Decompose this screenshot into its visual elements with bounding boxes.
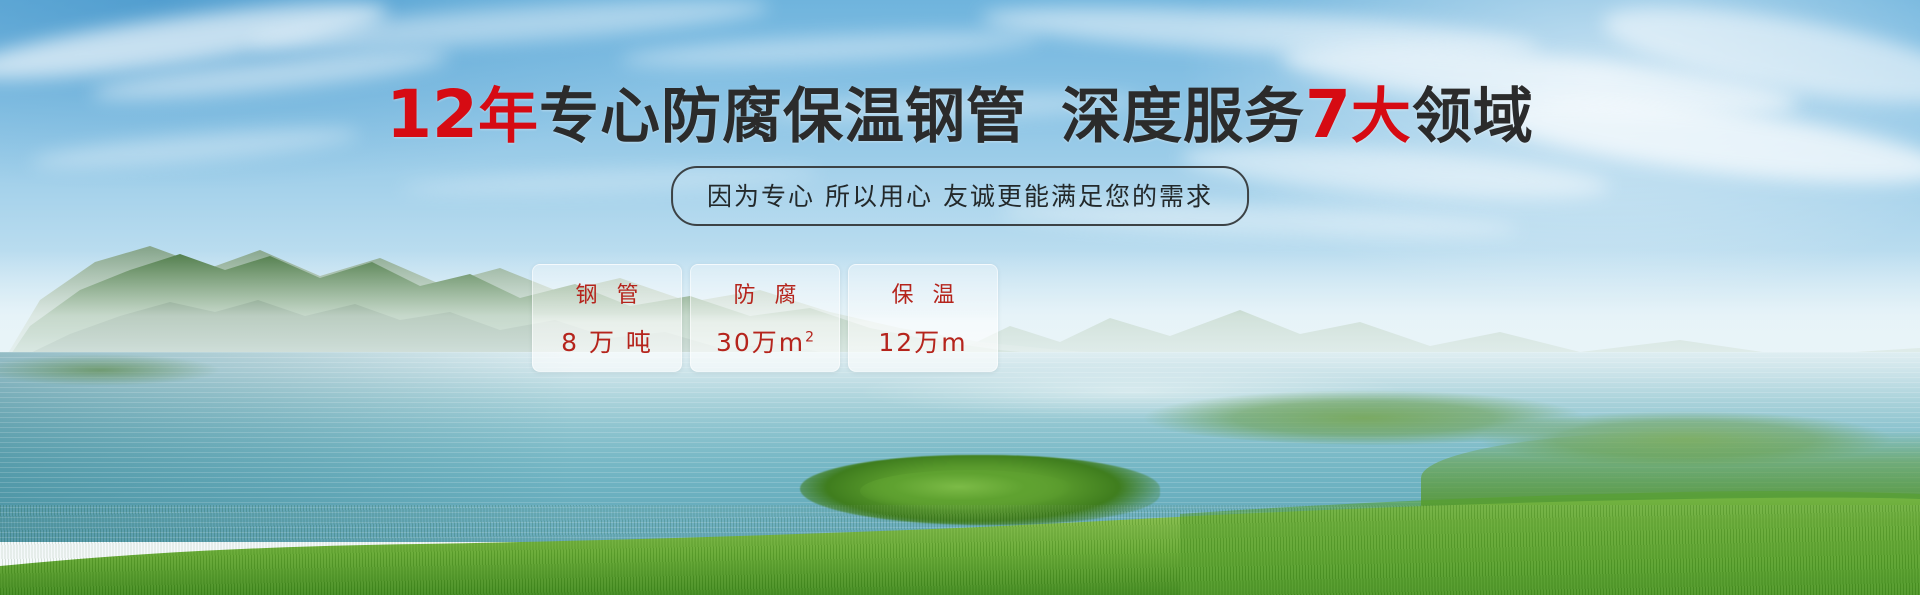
stat-card-title: 保 温 bbox=[886, 277, 961, 309]
headline-fields-number: 7 bbox=[1305, 76, 1351, 153]
stat-card-value-text: 8 万 吨 bbox=[561, 328, 653, 357]
headline-segment-main: 专心防腐保温钢管 bbox=[539, 82, 1027, 152]
headline-years-unit: 年 bbox=[478, 82, 539, 152]
stat-card-value: 8 万 吨 bbox=[561, 323, 653, 359]
stat-card: 防 腐 30万m2 bbox=[690, 264, 840, 372]
headline-segment-fields: 领域 bbox=[1412, 82, 1534, 152]
stat-card-value-text: 30万m bbox=[716, 328, 805, 357]
stat-card: 钢 管 8 万 吨 bbox=[532, 264, 682, 372]
headline-fields-unit: 大 bbox=[1351, 82, 1412, 152]
stat-card-title: 钢 管 bbox=[570, 277, 645, 309]
headline-years-number: 12 bbox=[386, 76, 478, 153]
stat-card-value: 12万m bbox=[878, 323, 967, 359]
stat-card-value: 30万m2 bbox=[716, 323, 814, 359]
stat-card-value-sup: 2 bbox=[805, 330, 814, 346]
promo-banner: 12年专心防腐保温钢管深度服务7大领域 因为专心 所以用心 友诚更能满足您的需求… bbox=[0, 0, 1920, 595]
banner-headline: 12年专心防腐保温钢管深度服务7大领域 bbox=[0, 82, 1920, 148]
banner-subtitle-pill: 因为专心 所以用心 友诚更能满足您的需求 bbox=[671, 166, 1249, 226]
stat-card: 保 温 12万m bbox=[848, 264, 998, 372]
stat-card-title: 防 腐 bbox=[728, 277, 803, 309]
stat-card-value-text: 12万m bbox=[878, 328, 967, 357]
stat-card-list: 钢 管 8 万 吨 防 腐 30万m2 保 温 12万m bbox=[532, 264, 998, 372]
banner-content: 12年专心防腐保温钢管深度服务7大领域 因为专心 所以用心 友诚更能满足您的需求… bbox=[0, 0, 1920, 595]
headline-segment-service: 深度服务 bbox=[1061, 82, 1305, 152]
